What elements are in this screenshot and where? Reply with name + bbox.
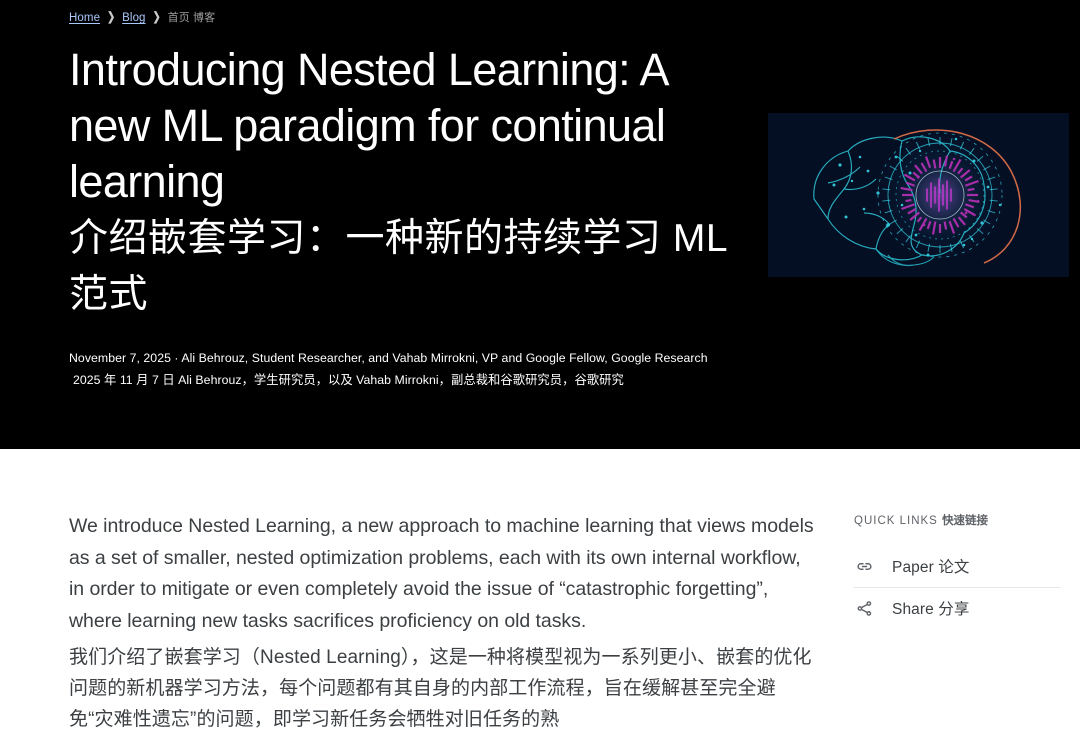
quick-link-share[interactable]: Share 分享 [854, 591, 1061, 625]
quick-links-heading: QUICK LINKS 快速链接 [854, 512, 1061, 528]
chevron-right-icon: ❯ [107, 9, 115, 27]
share-icon [854, 598, 875, 619]
quick-links-panel: QUICK LINKS 快速链接 Paper 论文 [854, 512, 1061, 625]
quick-link-paper[interactable]: Paper 论文 [854, 549, 1061, 583]
blog-post-page: Home ❯ Blog ❯ 首页 博客 Introducing Nested L… [0, 0, 1080, 744]
page-title-translation: 介绍嵌套学习：一种新的持续学习 ML 范式 [69, 211, 734, 323]
chevron-right-icon-2: ❯ [153, 9, 161, 27]
byline-translation: 2025 年 11 月 7 日 Ali Behrouz，学生研究员，以及 Vah… [73, 372, 624, 389]
article-paragraph-en: We introduce Nested Learning, a new appr… [69, 511, 814, 637]
article-paragraph-cn: 我们介绍了嵌套学习（Nested Learning），这是一种将模型视为一系列更… [69, 642, 814, 735]
page-title: Introducing Nested Learning: A new ML pa… [69, 42, 729, 210]
breadcrumb: Home ❯ Blog ❯ 首页 博客 [69, 11, 215, 25]
quick-links-divider [854, 587, 1060, 588]
neural-brain-illustration [768, 113, 1069, 277]
byline: November 7, 2025 · Ali Behrouz, Student … [69, 350, 708, 367]
breadcrumb-item-home[interactable]: Home [69, 11, 100, 25]
hero-image [768, 113, 1069, 277]
quick-link-share-label: Share 分享 [892, 597, 969, 619]
article-body: We introduce Nested Learning, a new appr… [69, 511, 814, 735]
breadcrumb-item-blog[interactable]: Blog [122, 11, 145, 25]
quick-link-paper-label: Paper 论文 [892, 555, 969, 577]
link-icon [854, 556, 875, 577]
breadcrumb-item-current: 首页 博客 [168, 11, 216, 25]
content-section: We introduce Nested Learning, a new appr… [0, 449, 1080, 744]
hero-section: Home ❯ Blog ❯ 首页 博客 Introducing Nested L… [0, 0, 1080, 449]
quick-links-heading-cn: 快速链接 [942, 515, 988, 527]
quick-links-heading-en: QUICK LINKS [854, 515, 938, 527]
